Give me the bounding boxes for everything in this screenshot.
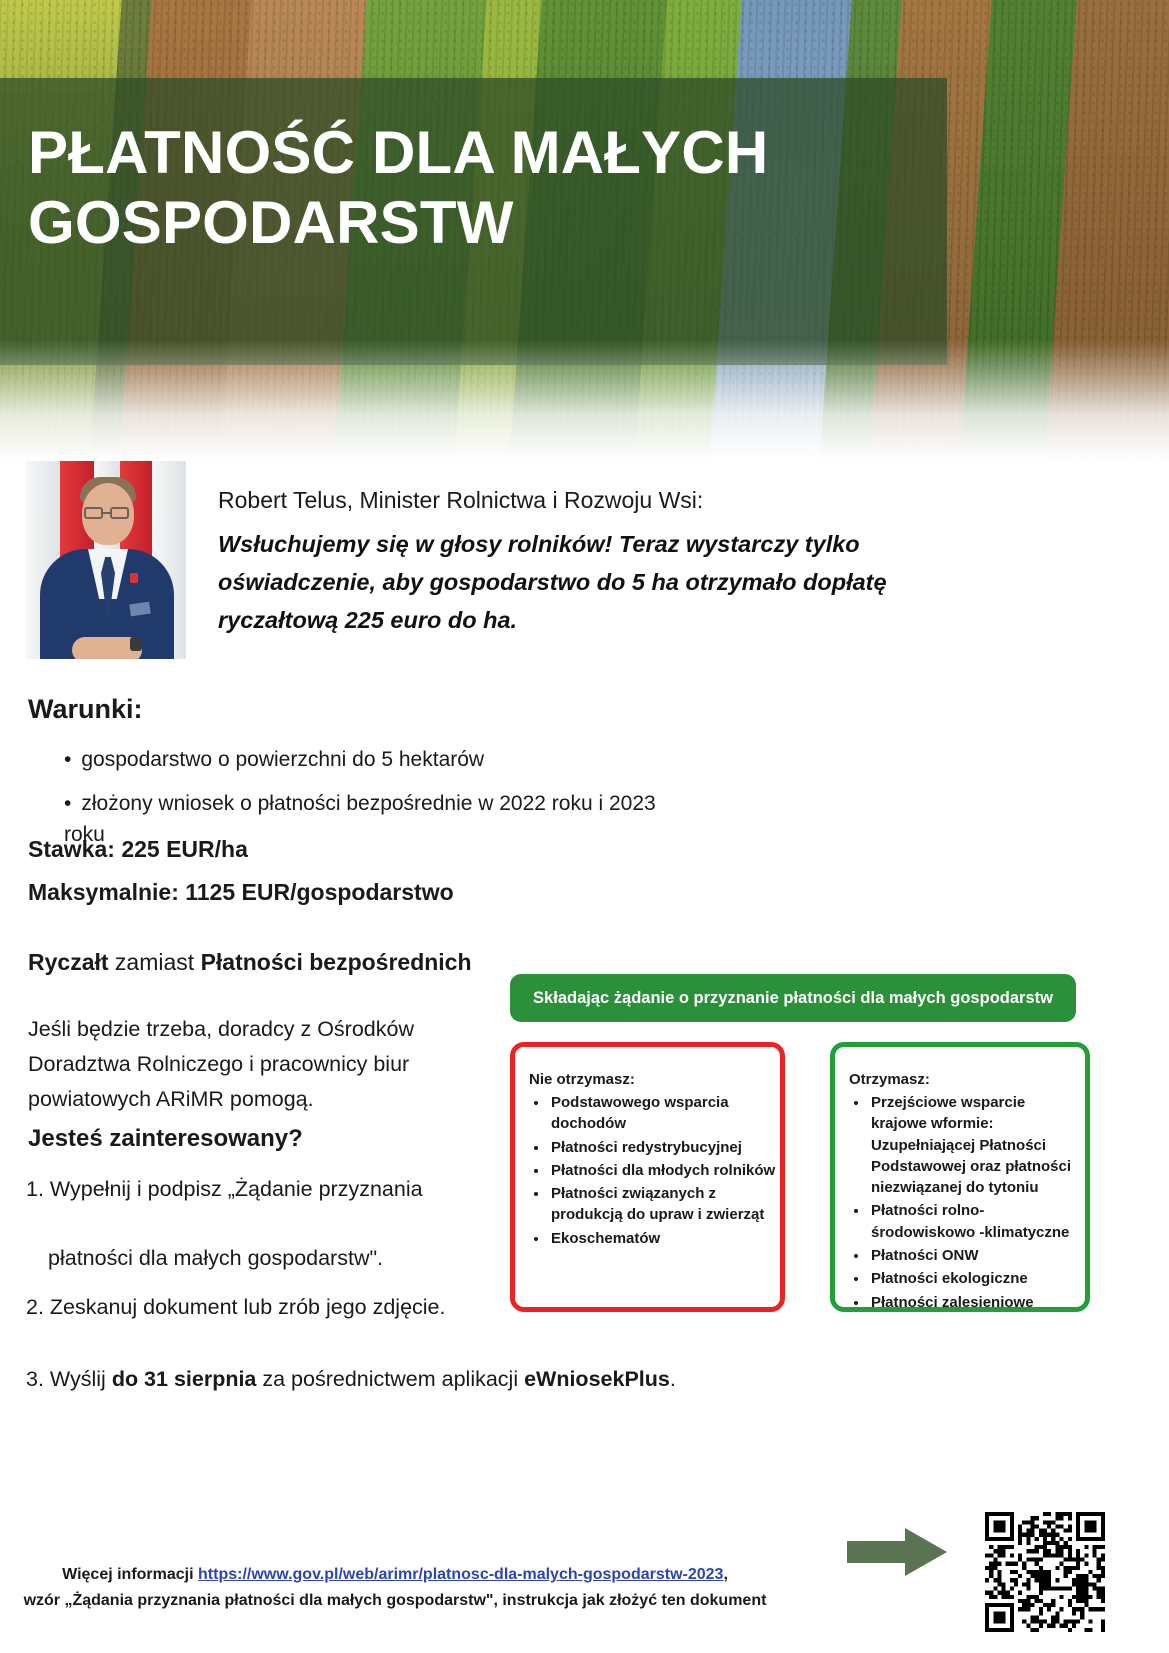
not-receive-heading: Nie otrzymasz: bbox=[529, 1071, 780, 1088]
arrow-right-icon bbox=[847, 1526, 947, 1578]
step-3-part-2: za pośrednictwem aplikacji bbox=[256, 1367, 524, 1391]
ryczalt-word: Ryczałt bbox=[28, 949, 109, 975]
list-item: Płatności ekologiczne bbox=[869, 1268, 1085, 1289]
ryczalt-alternative: Płatności bezpośrednich bbox=[201, 949, 472, 975]
list-item: Ekoschematów bbox=[549, 1228, 780, 1249]
step-1-line-1: 1. Wypełnij i podpisz „Żądanie przyznani… bbox=[26, 1172, 506, 1207]
footer-comma: , bbox=[723, 1566, 727, 1583]
list-item: Płatności dla młodych rolników bbox=[549, 1160, 780, 1181]
list-item: Płatności zalesieniowe bbox=[869, 1292, 1085, 1313]
list-item: Podstawowego wsparcia dochodów bbox=[549, 1092, 780, 1135]
submission-banner: Składając żądanie o przyznanie płatności… bbox=[510, 974, 1076, 1022]
list-item: Płatności redystrybucyjnej bbox=[549, 1137, 780, 1158]
qr-code[interactable] bbox=[985, 1512, 1105, 1632]
not-receive-list: Podstawowego wsparcia dochodów Płatności… bbox=[549, 1092, 780, 1249]
poster: PŁATNOŚĆ DLA MAŁYCH GOSPODARSTW Robert T… bbox=[0, 0, 1169, 1653]
footer-line-1: Więcej informacji https://www.gov.pl/web… bbox=[0, 1562, 790, 1588]
quote-text: Wsłuchujemy się w głosy rolników! Teraz … bbox=[218, 525, 998, 639]
step-2: 2. Zeskanuj dokument lub zrób jego zdjęc… bbox=[26, 1290, 546, 1325]
more-info-link[interactable]: https://www.gov.pl/web/arimr/platnosc-dl… bbox=[198, 1566, 723, 1583]
step-3-deadline: do 31 sierpnia bbox=[112, 1367, 257, 1391]
list-item: Przejściowe wsparcie krajowe wformie: Uz… bbox=[869, 1092, 1085, 1198]
ryczalt-statement: Ryczałt zamiast Płatności bezpośrednich bbox=[28, 946, 472, 978]
conditions-heading: Warunki: bbox=[28, 694, 143, 725]
footer-intro: Więcej informacji bbox=[62, 1566, 198, 1583]
max-rate-value: Maksymalnie: 1125 EUR/gospodarstwo bbox=[28, 879, 454, 906]
step-3-part-1: 3. Wyślij bbox=[26, 1367, 112, 1391]
will-receive-heading: Otrzymasz: bbox=[849, 1071, 1085, 1088]
step-3-part-3: . bbox=[670, 1367, 676, 1391]
page-title: PŁATNOŚĆ DLA MAŁYCH GOSPODARSTW bbox=[28, 118, 928, 257]
step-3-app-name: eWniosekPlus bbox=[524, 1367, 670, 1391]
ryczalt-connector: zamiast bbox=[109, 949, 201, 975]
step-3: 3. Wyślij do 31 sierpnia za pośrednictwe… bbox=[26, 1362, 726, 1397]
will-receive-box: Otrzymasz: Przejściowe wsparcie krajowe … bbox=[830, 1042, 1090, 1312]
list-item: Płatności ONW bbox=[869, 1245, 1085, 1266]
submission-banner-label: Składając żądanie o przyznanie płatności… bbox=[533, 989, 1053, 1008]
hero-banner: PŁATNOŚĆ DLA MAŁYCH GOSPODARSTW bbox=[0, 0, 1169, 460]
rate-value: Stawka: 225 EUR/ha bbox=[28, 836, 248, 863]
hero-fade bbox=[0, 340, 1169, 460]
list-item: Płatności związanych z produkcją do upra… bbox=[549, 1183, 780, 1226]
step-1: 1. Wypełnij i podpisz „Żądanie przyznani… bbox=[26, 1172, 506, 1276]
list-item: Płatności rolno-środowiskowo -klimatyczn… bbox=[869, 1200, 1085, 1243]
interested-heading: Jesteś zainteresowany? bbox=[28, 1125, 303, 1153]
list-item: gospodarstwo o powierzchni do 5 hektarów bbox=[64, 745, 684, 775]
advice-paragraph: Jeśli będzie trzeba, doradcy z Ośrodków … bbox=[28, 1012, 458, 1116]
minister-portrait bbox=[26, 461, 186, 659]
footer-line-2: wzór „Żądania przyznania płatności dla m… bbox=[0, 1588, 790, 1614]
will-receive-list: Przejściowe wsparcie krajowe wformie: Uz… bbox=[869, 1092, 1085, 1313]
not-receive-box: Nie otrzymasz: Podstawowego wsparcia doc… bbox=[510, 1042, 785, 1312]
step-1-line-2: płatności dla małych gospodarstw". bbox=[48, 1241, 506, 1276]
quote-attribution: Robert Telus, Minister Rolnictwa i Rozwo… bbox=[218, 483, 998, 519]
footer: Więcej informacji https://www.gov.pl/web… bbox=[0, 1562, 790, 1614]
